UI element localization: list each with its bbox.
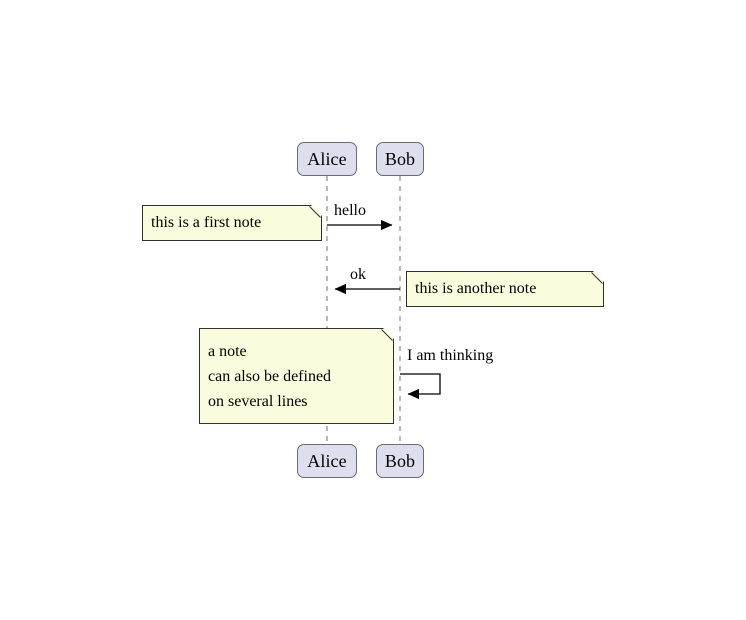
participant-box-bob-bottom[interactable]: Bob (376, 444, 424, 478)
note-text: a note can also be defined on several li… (208, 329, 385, 423)
participant-label: Bob (385, 150, 415, 168)
note-line: this is a first note (151, 215, 313, 231)
participant-label: Bob (385, 452, 415, 470)
messages-layer (0, 0, 746, 620)
note-line: can also be defined (208, 364, 385, 389)
participant-box-alice-bottom[interactable]: Alice (297, 444, 357, 478)
sequence-diagram: Alice Bob Alice Bob hello ok I am thinki… (0, 0, 746, 620)
message-arrow-self-thinking (400, 374, 440, 394)
note-line: this is another note (415, 281, 595, 297)
note-another[interactable]: this is another note (406, 271, 604, 307)
note-line: on several lines (208, 389, 385, 414)
note-line: a note (208, 339, 385, 364)
message-label-i-am-thinking: I am thinking (407, 348, 493, 364)
participant-box-alice-top[interactable]: Alice (297, 142, 357, 176)
participant-box-bob-top[interactable]: Bob (376, 142, 424, 176)
participant-label: Alice (307, 452, 346, 470)
note-text: this is a first note (151, 206, 313, 240)
message-label-ok: ok (350, 267, 366, 283)
note-text: this is another note (415, 272, 595, 306)
message-label-hello: hello (334, 203, 366, 219)
note-multiline[interactable]: a note can also be defined on several li… (199, 328, 394, 424)
participant-label: Alice (307, 150, 346, 168)
note-first[interactable]: this is a first note (142, 205, 322, 241)
